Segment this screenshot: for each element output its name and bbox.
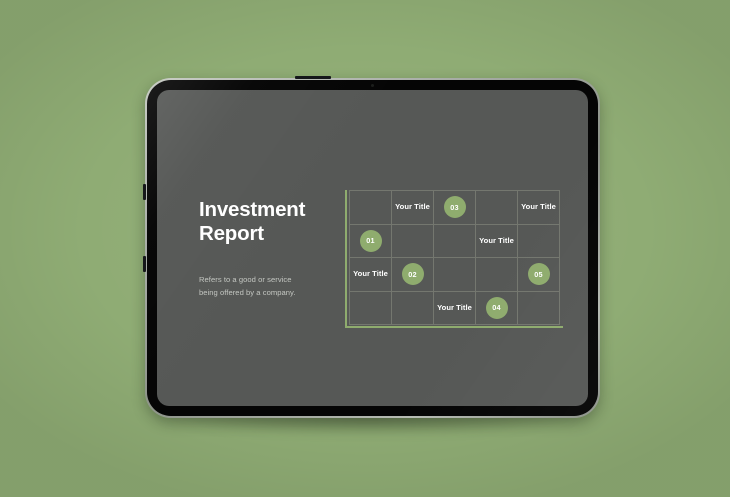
volume-up-button[interactable] bbox=[143, 184, 146, 200]
grid-cell-r3c2[interactable]: 02 bbox=[392, 258, 434, 292]
power-button[interactable] bbox=[295, 76, 331, 79]
grid-cell-label: Your Title bbox=[479, 236, 514, 246]
grid-badge-04[interactable]: 04 bbox=[486, 297, 508, 319]
grid-cell-r2c3[interactable] bbox=[434, 225, 476, 259]
grid-cell-label: Your Title bbox=[437, 303, 472, 313]
grid-badge-02[interactable]: 02 bbox=[402, 263, 424, 285]
grid-cell-label: Your Title bbox=[353, 269, 388, 279]
page-title-line-2: Report bbox=[199, 222, 264, 245]
slide-description: Refers to a good or service being offere… bbox=[199, 274, 297, 299]
page-title: InvestmentReport bbox=[199, 198, 349, 246]
grid-cell-label: Your Title bbox=[395, 202, 430, 212]
grid-cell-r2c5[interactable] bbox=[518, 225, 560, 259]
grid-cell-r2c1[interactable]: 01 bbox=[350, 225, 392, 259]
grid-badge-03[interactable]: 03 bbox=[444, 196, 466, 218]
grid-cell-r1c2[interactable]: Your Title bbox=[392, 191, 434, 225]
grid-cell-r1c4[interactable] bbox=[476, 191, 518, 225]
grid-table: Your Title 03 Your Title 01 bbox=[349, 190, 560, 325]
grid-cell-r4c3[interactable]: Your Title bbox=[434, 292, 476, 326]
grid-accent-left-rule bbox=[345, 190, 347, 328]
grid-cell-r3c5[interactable]: 05 bbox=[518, 258, 560, 292]
tablet-device: InvestmentReport Refers to a good or ser… bbox=[145, 78, 600, 418]
grid-badge-01[interactable]: 01 bbox=[360, 230, 382, 252]
grid-cell-r1c1[interactable] bbox=[350, 191, 392, 225]
grid-cell-r4c2[interactable] bbox=[392, 292, 434, 326]
tablet-screen[interactable]: InvestmentReport Refers to a good or ser… bbox=[157, 90, 588, 406]
volume-down-button[interactable] bbox=[143, 256, 146, 272]
slide-text-block: InvestmentReport Refers to a good or ser… bbox=[199, 198, 349, 299]
matrix-grid: Your Title 03 Your Title 01 bbox=[345, 190, 563, 328]
grid-cell-r1c3[interactable]: 03 bbox=[434, 191, 476, 225]
grid-cell-r3c1[interactable]: Your Title bbox=[350, 258, 392, 292]
page-title-line-1: Investment bbox=[199, 198, 305, 221]
grid-cell-r3c4[interactable] bbox=[476, 258, 518, 292]
grid-accent-bottom-rule bbox=[345, 326, 563, 328]
grid-cell-r1c5[interactable]: Your Title bbox=[518, 191, 560, 225]
grid-cell-r3c3[interactable] bbox=[434, 258, 476, 292]
grid-badge-05[interactable]: 05 bbox=[528, 263, 550, 285]
grid-cell-r4c5[interactable] bbox=[518, 292, 560, 326]
grid-cell-r2c4[interactable]: Your Title bbox=[476, 225, 518, 259]
presentation-mockup-stage: InvestmentReport Refers to a good or ser… bbox=[0, 0, 730, 497]
front-camera-icon bbox=[371, 84, 374, 87]
grid-cell-r2c2[interactable] bbox=[392, 225, 434, 259]
grid-cell-r4c1[interactable] bbox=[350, 292, 392, 326]
grid-cell-label: Your Title bbox=[521, 202, 556, 212]
grid-cell-r4c4[interactable]: 04 bbox=[476, 292, 518, 326]
